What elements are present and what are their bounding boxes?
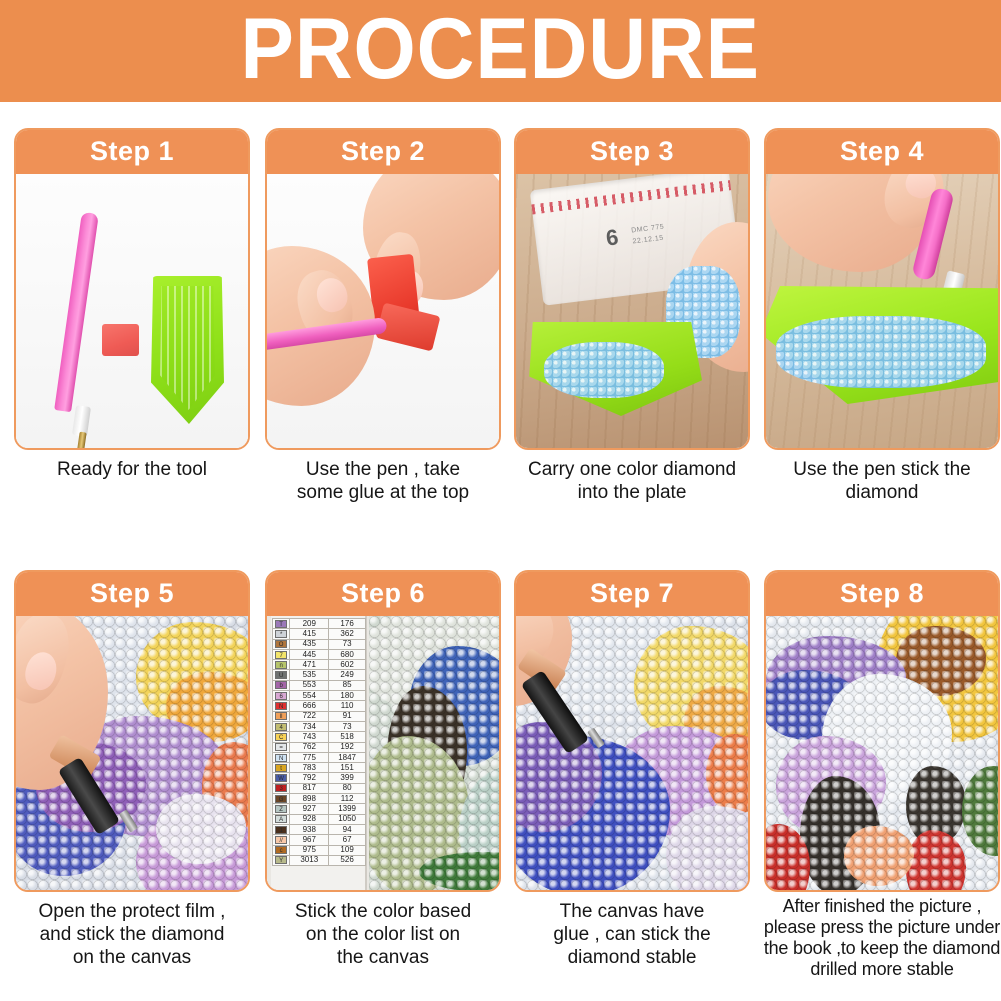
color-symbol-icon: = [275, 743, 287, 751]
color-symbol-cell: c [273, 845, 290, 855]
color-count-cell: 362 [329, 629, 366, 639]
color-symbol-cell: W [273, 773, 290, 783]
color-list-row: *415362 [273, 629, 366, 639]
color-count-cell: 1050 [329, 814, 366, 824]
color-list-row: G898112 [273, 794, 366, 804]
mosaic-area-peach [844, 826, 914, 886]
color-list-row: W792399 [273, 773, 366, 783]
step-cell-1: Step 1 Ready for the tool [14, 128, 250, 548]
step-image-5 [16, 616, 248, 890]
step-image-2 [267, 174, 499, 448]
step-header-label-2: Step 2 [341, 136, 425, 167]
step-card-2: Step 2 [265, 128, 501, 450]
color-dmc-cell: 975 [290, 845, 329, 855]
scene-pick-diamond [766, 174, 998, 448]
color-dmc-cell: 762 [290, 742, 329, 752]
step-cell-5: Step 5 [14, 570, 250, 990]
color-symbol-cell: A [273, 814, 290, 824]
color-count-cell: 526 [329, 855, 366, 865]
step-header-label-3: Step 3 [590, 136, 674, 167]
color-symbol-icon: * [275, 630, 287, 638]
color-count-cell: 1847 [329, 752, 366, 762]
color-symbol-icon: O [275, 640, 287, 648]
color-count-cell: 180 [329, 691, 366, 701]
color-list-row: C743518 [273, 732, 366, 742]
color-list-row: 193894 [273, 824, 366, 834]
step-image-6: T209176*415362O435737445680n471602U53524… [267, 616, 499, 890]
scene-color-chart: T209176*415362O435737445680n471602U53524… [267, 616, 499, 890]
color-dmc-cell: 553 [290, 680, 329, 690]
color-list-row: c975109 [273, 845, 366, 855]
color-symbol-icon: N [275, 754, 287, 762]
color-list-row: O43573 [273, 639, 366, 649]
color-count-cell: 518 [329, 732, 366, 742]
color-count-cell: 109 [329, 845, 366, 855]
step-caption-8: After finished the picture , please pres… [758, 896, 1001, 980]
step-header-8: Step 8 [764, 570, 1000, 616]
page-title: PROCEDURE [241, 6, 760, 96]
color-count-cell: 249 [329, 670, 366, 680]
color-symbol-icon: ll [275, 712, 287, 720]
color-symbol-cell: // [273, 835, 290, 845]
color-symbol-cell: 6 [273, 691, 290, 701]
mosaic-area-red [906, 830, 966, 890]
color-list-row: N7751847 [273, 752, 366, 762]
color-symbol-cell: 4 [273, 721, 290, 731]
color-count-cell: 94 [329, 824, 366, 834]
color-dmc-cell: 3013 [290, 855, 329, 865]
color-count-cell: 91 [329, 711, 366, 721]
color-dmc-cell: 415 [290, 629, 329, 639]
color-list-row: b55385 [273, 680, 366, 690]
step-cell-6: Step 6 T209176*415362O435737445680n47160… [265, 570, 501, 990]
color-count-cell: 151 [329, 763, 366, 773]
diamond-pile-icon [544, 342, 664, 398]
color-symbol-icon: C [275, 733, 287, 741]
color-symbol-cell: G [273, 794, 290, 804]
color-symbol-cell: 7 [273, 649, 290, 659]
step-card-6: Step 6 T209176*415362O435737445680n47160… [265, 570, 501, 892]
step-header-7: Step 7 [514, 570, 750, 616]
bag-label-code: DMC 775 22.12.15 [631, 223, 666, 248]
color-list-row: N666110 [273, 701, 366, 711]
color-list-row: //96767 [273, 835, 366, 845]
color-count-cell: 110 [329, 701, 366, 711]
color-count-cell: 1399 [329, 804, 366, 814]
color-symbol-cell: 1 [273, 824, 290, 834]
color-count-cell: 67 [329, 835, 366, 845]
color-symbol-icon: W [275, 774, 287, 782]
color-list-body: T209176*415362O435737445680n471602U53524… [273, 619, 366, 866]
color-symbol-icon: b [275, 681, 287, 689]
color-symbol-cell: Z [273, 804, 290, 814]
color-list-row: U535249 [273, 670, 366, 680]
bag-label-number: 6 [605, 224, 620, 251]
color-symbol-cell: O [273, 639, 290, 649]
color-symbol-icon: n [275, 661, 287, 669]
color-dmc-cell: 445 [290, 649, 329, 659]
color-symbol-cell: ll [273, 711, 290, 721]
step-header-label-7: Step 7 [590, 578, 674, 609]
step-header-label-5: Step 5 [90, 578, 174, 609]
step-image-3: 6 DMC 775 22.12.15 [516, 174, 748, 448]
step-header-1: Step 1 [14, 128, 250, 174]
color-symbol-icon: 4 [275, 723, 287, 731]
step-caption-2: Use the pen , take some glue at the top [259, 458, 507, 504]
color-symbol-icon: // [275, 836, 287, 844]
scene-mosaic-canvas [516, 616, 748, 890]
color-symbol-cell: Y [273, 855, 290, 865]
color-symbol-cell: T [273, 619, 290, 629]
steps-row-2: Step 5 [0, 570, 1001, 990]
color-list-row: Y3013526 [273, 855, 366, 865]
color-symbol-icon: U [275, 671, 287, 679]
color-dmc-cell: 967 [290, 835, 329, 845]
step-card-7: Step 7 [514, 570, 750, 892]
step-image-8 [766, 616, 998, 890]
color-symbol-icon: Y [275, 856, 287, 864]
color-count-cell: 399 [329, 773, 366, 783]
procedure-infographic: PROCEDURE Step 1 [0, 0, 1001, 1001]
color-symbol-icon: 6 [275, 692, 287, 700]
step-card-3: Step 3 6 DMC 775 22.12.15 [514, 128, 750, 450]
step-caption-3: Carry one color diamond into the plate [508, 458, 756, 504]
step-header-4: Step 4 [764, 128, 1000, 174]
color-dmc-cell: 783 [290, 763, 329, 773]
scene-mosaic-canvas [16, 616, 248, 890]
scene-pour-diamonds: 6 DMC 775 22.12.15 [516, 174, 748, 448]
color-list-row: 381780 [273, 783, 366, 793]
color-list-row: A9281050 [273, 814, 366, 824]
color-count-cell: 112 [329, 794, 366, 804]
step-caption-7: The canvas have glue , can stick the dia… [508, 900, 756, 970]
color-count-cell: 192 [329, 742, 366, 752]
step-image-1 [16, 174, 248, 448]
step-header-3: Step 3 [514, 128, 750, 174]
partial-mosaic-canvas [369, 616, 499, 890]
color-list-row: =762192 [273, 742, 366, 752]
page-header-band: PROCEDURE [0, 0, 1001, 102]
color-list-row: 6554180 [273, 691, 366, 701]
color-dmc-cell: 938 [290, 824, 329, 834]
color-symbol-icon: Z [275, 805, 287, 813]
color-dmc-cell: 927 [290, 804, 329, 814]
step-header-label-6: Step 6 [341, 578, 425, 609]
color-symbol-icon: 3 [275, 784, 287, 792]
color-dmc-cell: 535 [290, 670, 329, 680]
step-caption-4: Use the pen stick the diamond [758, 458, 1001, 504]
color-symbol-cell: = [273, 742, 290, 752]
step-card-4: Step 4 [764, 128, 1000, 450]
step-image-4 [766, 174, 998, 448]
color-count-cell: 80 [329, 783, 366, 793]
step-header-6: Step 6 [265, 570, 501, 616]
color-count-cell: 176 [329, 619, 366, 629]
color-symbol-cell: C [273, 732, 290, 742]
steps-grid: Step 1 Ready for the tool [0, 102, 1001, 1001]
color-list-row: 7445680 [273, 649, 366, 659]
color-symbol-cell: N [273, 701, 290, 711]
color-symbol-icon: c [275, 846, 287, 854]
steps-row-1: Step 1 Ready for the tool [0, 128, 1001, 548]
color-symbol-cell: 3 [273, 783, 290, 793]
color-count-cell: 85 [329, 680, 366, 690]
color-symbol-cell: U [273, 670, 290, 680]
scene-take-glue [267, 174, 499, 448]
color-count-cell: 73 [329, 721, 366, 731]
step-cell-7: Step 7 [514, 570, 750, 990]
color-symbol-icon: 1 [275, 826, 287, 834]
color-symbol-cell: N [273, 752, 290, 762]
scene-tools [16, 174, 248, 448]
color-dmc-cell: 435 [290, 639, 329, 649]
color-symbol-cell: b [273, 680, 290, 690]
pink-pen-icon [54, 212, 99, 412]
color-symbol-icon: 7 [275, 651, 287, 659]
step-card-5: Step 5 [14, 570, 250, 892]
glue-square-icon [102, 324, 139, 356]
color-symbol-icon: A [275, 815, 287, 823]
step-caption-1: Ready for the tool [8, 458, 256, 481]
color-count-cell: 680 [329, 649, 366, 659]
color-list-row: Z9271399 [273, 804, 366, 814]
color-list-row: T209176 [273, 619, 366, 629]
step-cell-4: Step 4 [764, 128, 1000, 548]
color-count-cell: 73 [329, 639, 366, 649]
color-dmc-cell: 471 [290, 660, 329, 670]
step-cell-3: Step 3 6 DMC 775 22.12.15 [514, 128, 750, 548]
step-card-1: Step 1 [14, 128, 250, 450]
color-dmc-cell: 209 [290, 619, 329, 629]
step-header-label-1: Step 1 [90, 136, 174, 167]
color-dmc-cell: 722 [290, 711, 329, 721]
step-header-label-8: Step 8 [840, 578, 924, 609]
scene-finished-painting [766, 616, 998, 890]
color-symbol-icon: N [275, 702, 287, 710]
color-dmc-cell: 554 [290, 691, 329, 701]
step-cell-8: Step 8 [764, 570, 1000, 990]
step-header-label-4: Step 4 [840, 136, 924, 167]
color-symbol-cell: t [273, 763, 290, 773]
color-dmc-cell: 743 [290, 732, 329, 742]
color-dmc-cell: 928 [290, 814, 329, 824]
step-cell-2: Step 2 [265, 128, 501, 548]
color-count-cell: 602 [329, 660, 366, 670]
mosaic-area-green [962, 766, 998, 856]
color-dmc-cell: 792 [290, 773, 329, 783]
color-list-row: t783151 [273, 763, 366, 773]
color-symbol-icon: T [275, 620, 287, 628]
step-header-2: Step 2 [265, 128, 501, 174]
color-symbol-icon: t [275, 764, 287, 772]
color-dmc-cell: 734 [290, 721, 329, 731]
color-list-row: n471602 [273, 660, 366, 670]
step-card-8: Step 8 [764, 570, 1000, 892]
step-caption-5: Open the protect film , and stick the di… [8, 900, 256, 970]
color-list-chart: T209176*415362O435737445680n471602U53524… [271, 616, 367, 890]
color-list-row: 473473 [273, 721, 366, 731]
color-symbol-cell: * [273, 629, 290, 639]
color-list-row: ll72291 [273, 711, 366, 721]
color-dmc-cell: 666 [290, 701, 329, 711]
step-caption-6: Stick the color based on the color list … [259, 900, 507, 970]
step-image-7 [516, 616, 748, 890]
color-symbol-cell: n [273, 660, 290, 670]
color-dmc-cell: 775 [290, 752, 329, 762]
color-list-table: T209176*415362O435737445680n471602U53524… [272, 618, 366, 866]
color-dmc-cell: 898 [290, 794, 329, 804]
green-tray-icon [151, 276, 224, 424]
color-symbol-icon: G [275, 795, 287, 803]
step-header-5: Step 5 [14, 570, 250, 616]
color-dmc-cell: 817 [290, 783, 329, 793]
diamond-pile-icon [776, 316, 986, 388]
